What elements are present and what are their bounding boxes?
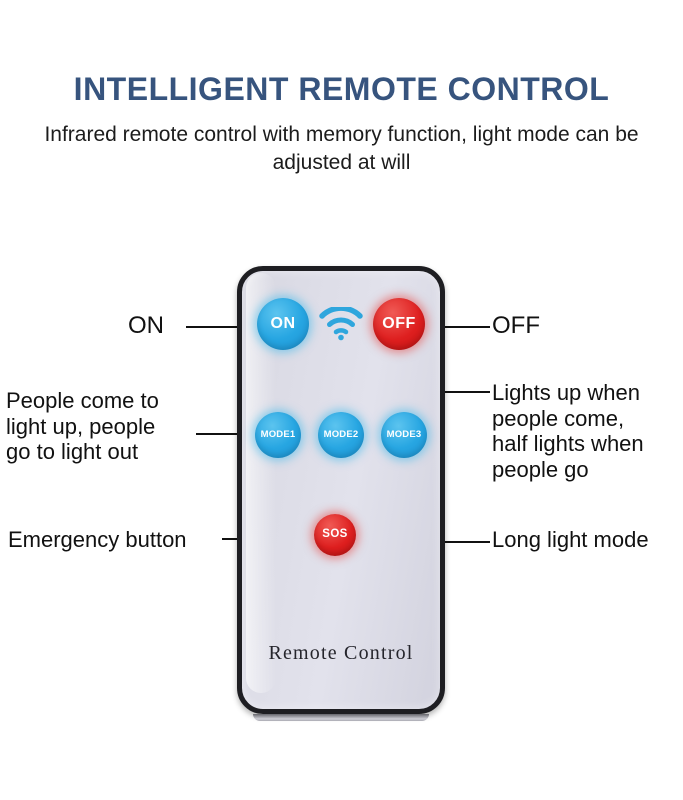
page-title: INTELLIGENT REMOTE CONTROL xyxy=(0,72,683,107)
sos-button[interactable]: SOS xyxy=(314,514,356,556)
on-button[interactable]: ON xyxy=(257,298,309,350)
remote-control-device: ON OFF MODE1 MODE2 MODE3 SOS Remote Cont… xyxy=(237,266,445,714)
page-subtitle: Infrared remote control with memory func… xyxy=(42,121,642,176)
mode2-button[interactable]: MODE2 xyxy=(318,412,364,458)
mode3-button[interactable]: MODE3 xyxy=(381,412,427,458)
wifi-signal-icon xyxy=(317,304,365,344)
annotation-mode2: Lights up when people come, half lights … xyxy=(492,380,644,483)
annotation-off: OFF xyxy=(492,312,540,340)
remote-bottom-edge xyxy=(253,714,429,721)
annotation-on: ON xyxy=(128,312,164,340)
header-block: INTELLIGENT REMOTE CONTROL Infrared remo… xyxy=(0,72,683,177)
annotation-mode1: People come to light up, people go to li… xyxy=(6,388,159,465)
off-button[interactable]: OFF xyxy=(373,298,425,350)
annotation-sos: Emergency button xyxy=(8,527,187,553)
mode1-button[interactable]: MODE1 xyxy=(255,412,301,458)
annotation-mode3: Long light mode xyxy=(492,527,649,553)
device-brand-label: Remote Control xyxy=(237,642,445,665)
